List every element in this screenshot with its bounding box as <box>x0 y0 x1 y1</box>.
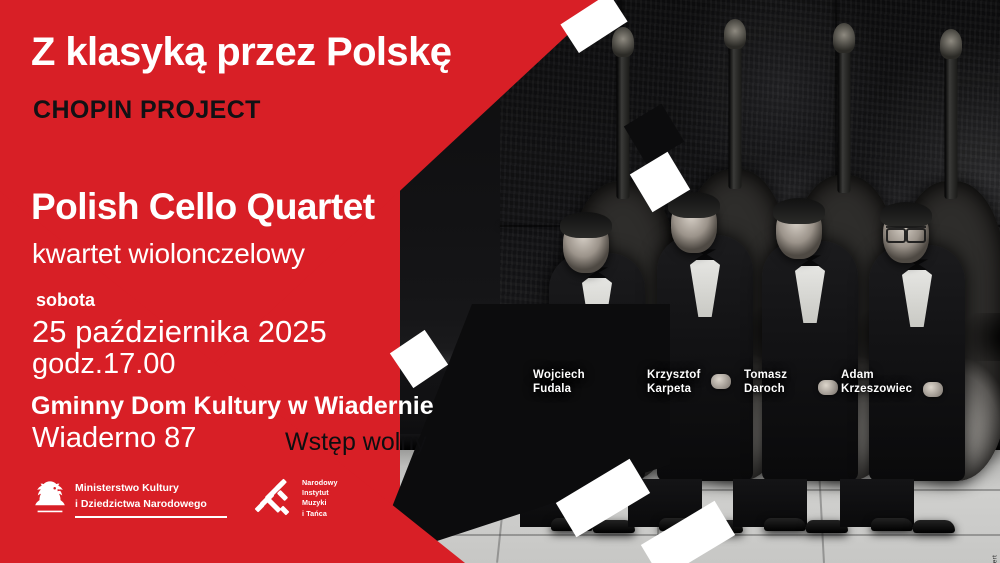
sponsor-logos: Ministerstwo Kultury i Dziedzictwa Narod… <box>33 478 338 519</box>
photo-credit: fot. Łukasz Rajchert <box>991 555 998 563</box>
ministry-logo-line2: i Dziedzictwa Narodowego <box>75 495 227 511</box>
page-title: Z klasyką przez Polskę <box>31 32 451 72</box>
ensemble-name-en: Polish Cello Quartet <box>31 188 375 225</box>
nimit-logo: Narodowy Instytut Muzyki i Tańca <box>253 478 338 519</box>
event-address: Wiaderno 87 <box>32 422 196 455</box>
nimit-logo-line1: Narodowy <box>302 478 338 488</box>
nimit-slashes-icon <box>253 479 295 517</box>
ministry-logo-rule <box>75 516 227 519</box>
event-time: godz.17.00 <box>32 348 176 381</box>
ministry-logo-line1: Ministerstwo Kultury <box>75 479 227 495</box>
event-date: 25 października 2025 <box>32 316 327 349</box>
ministry-logo-text-block: Ministerstwo Kultury i Dziedzictwa Narod… <box>75 479 227 518</box>
event-weekday: sobota <box>36 290 95 311</box>
project-subtitle: CHOPIN PROJECT <box>33 96 261 125</box>
event-venue: Gminny Dom Kultury w Wiadernie <box>31 392 434 421</box>
nimit-logo-line2: Instytut <box>302 488 338 498</box>
ensemble-name-pl: kwartet wiolonczelowy <box>32 238 305 270</box>
admission-notice: Wstęp wolny <box>285 428 427 457</box>
concert-poster: Wojciech Fudala Krzysztof Karpeta Tomasz… <box>0 0 1000 563</box>
nimit-logo-line4: i Tańca <box>302 509 338 519</box>
nimit-logo-text-block: Narodowy Instytut Muzyki i Tańca <box>302 478 338 519</box>
ministry-of-culture-logo: Ministerstwo Kultury i Dziedzictwa Narod… <box>33 479 227 518</box>
nimit-logo-line3: Muzyki <box>302 498 338 508</box>
polish-eagle-icon <box>33 479 67 517</box>
